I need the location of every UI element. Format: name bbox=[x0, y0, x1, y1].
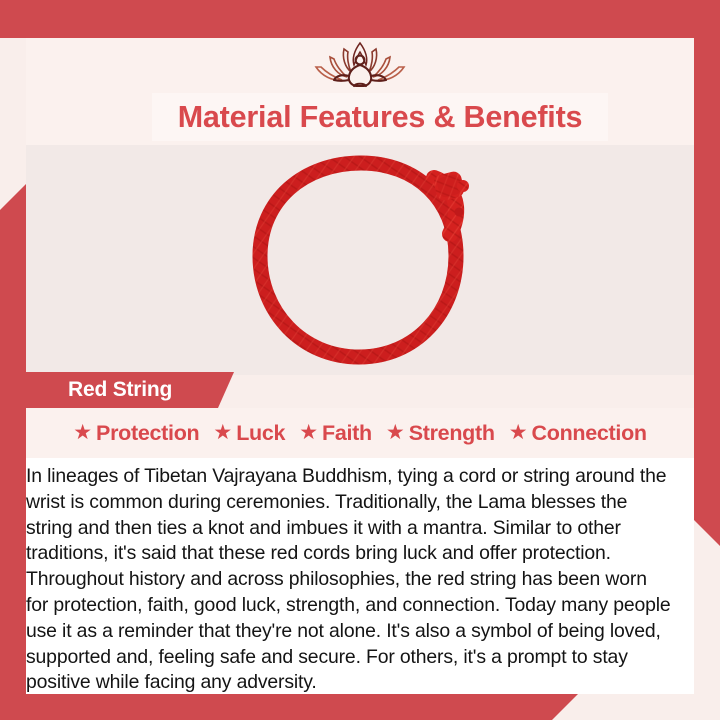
star-icon: ★ bbox=[299, 422, 318, 443]
page-title-band: Material Features & Benefits bbox=[152, 93, 608, 141]
star-icon: ★ bbox=[73, 422, 92, 443]
lotus-meditation-icon bbox=[304, 40, 416, 92]
description-block: In lineages of Tibetan Vajrayana Buddhis… bbox=[26, 458, 694, 694]
feature-list: ★ Protection ★ Luck ★ Faith ★ Strength ★… bbox=[26, 412, 694, 454]
feature-label: Faith bbox=[322, 421, 372, 446]
product-name-ribbon: Red String bbox=[26, 372, 234, 408]
feature-label: Protection bbox=[96, 421, 199, 446]
product-name-label: Red String bbox=[26, 378, 172, 402]
feature-item-strength: ★ Strength bbox=[381, 421, 500, 446]
star-icon: ★ bbox=[213, 422, 232, 443]
description-paragraph: In lineages of Tibetan Vajrayana Buddhis… bbox=[26, 464, 672, 696]
feature-item-protection: ★ Protection bbox=[68, 421, 204, 446]
frame-bottom-bar bbox=[0, 694, 578, 720]
product-image bbox=[26, 150, 694, 378]
star-icon: ★ bbox=[509, 422, 528, 443]
infographic-page: BUDDHA STONES Material Features & Benefi… bbox=[0, 0, 720, 720]
feature-label: Strength bbox=[409, 421, 495, 446]
frame-left-bar bbox=[0, 184, 26, 720]
frame-top-bar bbox=[0, 0, 720, 38]
feature-item-luck: ★ Luck bbox=[208, 421, 290, 446]
red-braided-cord-bracelet-icon bbox=[220, 152, 500, 377]
feature-item-faith: ★ Faith bbox=[294, 421, 377, 446]
star-icon: ★ bbox=[386, 422, 405, 443]
feature-label: Luck bbox=[236, 421, 285, 446]
page-title: Material Features & Benefits bbox=[178, 100, 583, 135]
feature-item-connection: ★ Connection bbox=[504, 421, 652, 446]
feature-label: Connection bbox=[532, 421, 647, 446]
